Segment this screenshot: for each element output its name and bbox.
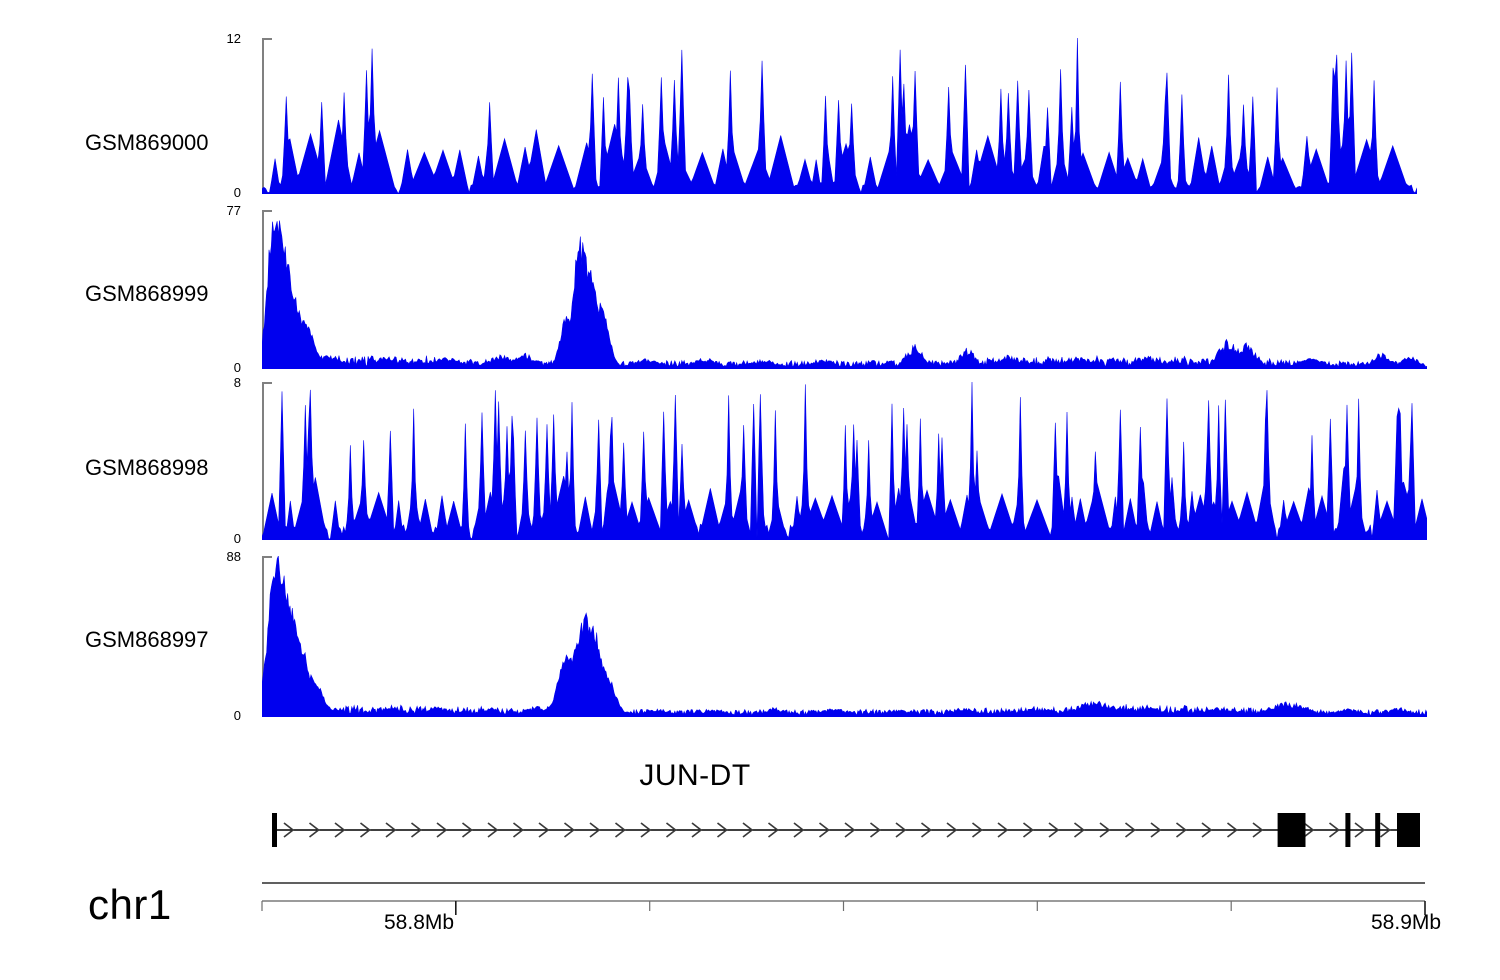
gene-exon-block [1397,813,1420,847]
gene-model-track: JUN-DT [0,745,1500,875]
track-label-gsm868999: GSM868999 [85,281,235,307]
gene-exon-block [1345,813,1350,847]
axis-tick-label-start: 58.8Mb [384,911,454,935]
y-axis-max-label: 88 [227,550,241,563]
track-label-gsm869000: GSM869000 [85,130,235,156]
coverage-svg [262,382,1427,540]
track-label-gsm868998: GSM868998 [85,455,235,481]
y-axis-min-label: 0 [234,709,241,722]
gene-name-label: JUN-DT [0,759,1500,793]
y-axis-min-label: 0 [234,186,241,199]
coverage-plot-gsm868997 [262,556,1427,717]
genome-coordinate-axis: chr1 58.8Mb 58.9Mb [0,875,1500,980]
coverage-svg [262,556,1427,717]
data-track-gsm868999: GSM868999 77 0 [0,203,1500,375]
gene-exon-block [272,813,277,847]
coverage-plot-gsm868998 [262,382,1427,540]
gene-name-text: JUN-DT [639,759,750,792]
track-label-gsm868997: GSM868997 [85,627,235,653]
gene-exon-block [1278,813,1306,847]
coverage-svg [262,210,1427,369]
data-track-gsm868997: GSM868997 88 0 [0,549,1500,724]
coverage-svg [262,38,1417,194]
y-axis-max-label: 77 [227,204,241,217]
genome-axis-svg [0,875,1500,915]
coverage-plot-gsm868999 [262,210,1427,369]
y-axis-max-label: 8 [234,376,241,389]
coverage-plot-gsm869000 [262,38,1417,194]
genome-browser: GSM869000 12 0 GSM868999 77 0 GSM868998 [0,0,1500,980]
y-axis-max-label: 12 [227,32,241,45]
data-track-gsm868998: GSM868998 8 0 [0,376,1500,548]
data-track-gsm869000: GSM869000 12 0 [0,30,1500,202]
gene-exon-block [1375,813,1380,847]
gene-model-svg [0,795,1500,865]
axis-tick-label-end: 58.9Mb [1371,911,1441,935]
y-axis-min-label: 0 [234,361,241,374]
y-axis-min-label: 0 [234,532,241,545]
